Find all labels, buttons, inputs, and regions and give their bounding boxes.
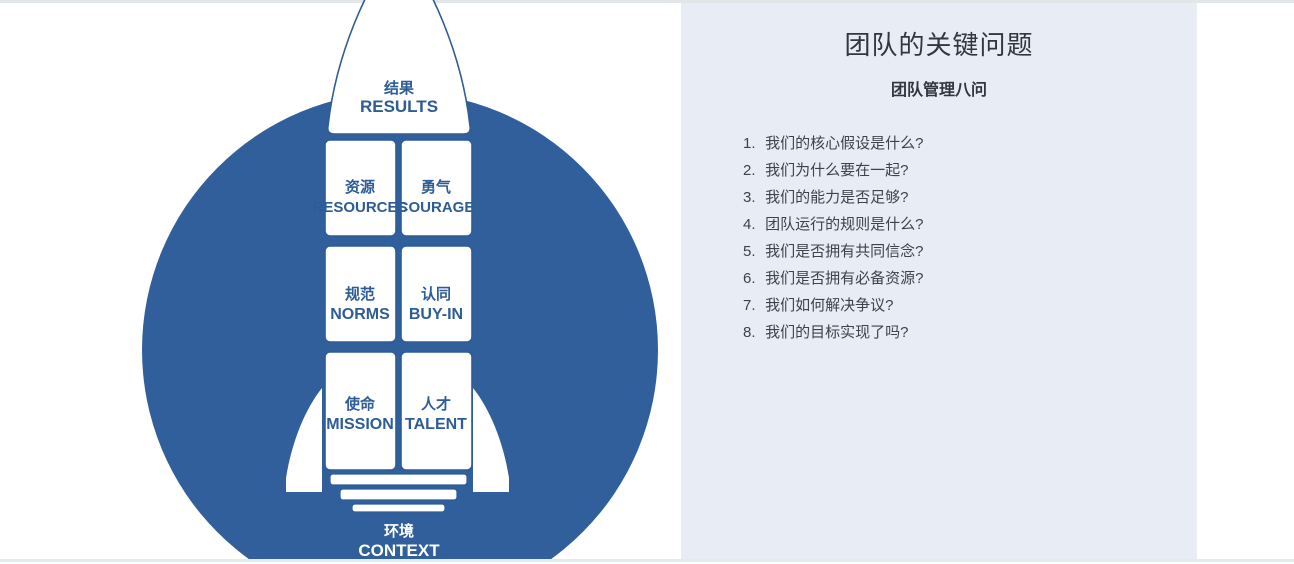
list-item: 2. 我们为什么要在一起? — [743, 157, 1197, 184]
list-item-text: 我们的核心假设是什么? — [765, 135, 923, 152]
list-item-number: 7. — [743, 292, 761, 319]
list-item-text: 我们是否拥有共同信念? — [765, 243, 923, 260]
list-item-number: 6. — [743, 265, 761, 292]
questions-list: 1. 我们的核心假设是什么? 2. 我们为什么要在一起? 3. 我们的能力是否足… — [681, 100, 1197, 346]
list-item: 5. 我们是否拥有共同信念? — [743, 238, 1197, 265]
resources-label-en: RESOURCES — [312, 199, 407, 216]
mission-label-en: MISSION — [326, 416, 394, 433]
list-item: 8. 我们的目标实现了吗? — [743, 319, 1197, 346]
list-item-number: 5. — [743, 238, 761, 265]
rocket-engine-bar-1 — [330, 474, 467, 485]
buyin-label-cn: 认同 — [421, 285, 451, 303]
list-item-text: 我们如何解决争议? — [765, 297, 893, 314]
talent-label-en: TALENT — [405, 416, 467, 433]
courage-label-en: COURAGE — [398, 199, 475, 216]
list-item: 7. 我们如何解决争议? — [743, 292, 1197, 319]
list-item-number: 8. — [743, 319, 761, 346]
list-item-number: 1. — [743, 130, 761, 157]
questions-panel: 团队的关键问题 团队管理八问 1. 我们的核心假设是什么? 2. 我们为什么要在… — [681, 3, 1197, 559]
list-item: 3. 我们的能力是否足够? — [743, 184, 1197, 211]
list-item-text: 我们是否拥有必备资源? — [765, 270, 923, 287]
norms-label-cn: 规范 — [345, 285, 375, 303]
courage-label-cn: 勇气 — [421, 178, 451, 196]
list-item: 6. 我们是否拥有必备资源? — [743, 265, 1197, 292]
mission-label-cn: 使命 — [344, 395, 376, 413]
results-label-en: RESULTS — [360, 97, 438, 116]
norms-label-en: NORMS — [330, 306, 390, 323]
list-item-text: 我们为什么要在一起? — [765, 162, 908, 179]
rocket-diagram: 结果 RESULTS 资源 RESOURCES 勇气 COURAGE 规范 NO… — [0, 0, 681, 559]
buyin-label-en: BUY-IN — [409, 306, 463, 323]
list-item-text: 团队运行的规则是什么? — [765, 216, 923, 233]
resources-label-cn: 资源 — [345, 178, 375, 196]
results-label-cn: 结果 — [384, 79, 415, 97]
context-label-cn: 环境 — [384, 522, 414, 540]
page-subtitle: 团队管理八问 — [681, 62, 1197, 100]
bottom-divider — [0, 559, 1294, 562]
list-item: 4. 团队运行的规则是什么? — [743, 211, 1197, 238]
rocket-engine-bar-3 — [352, 504, 445, 512]
context-label-en: CONTEXT — [358, 541, 440, 559]
rocket-diagram-svg: 结果 RESULTS 资源 RESOURCES 勇气 COURAGE 规范 NO… — [0, 0, 681, 559]
list-item-text: 我们的能力是否足够? — [765, 189, 908, 206]
page-title: 团队的关键问题 — [681, 3, 1197, 62]
slide-canvas: 结果 RESULTS 资源 RESOURCES 勇气 COURAGE 规范 NO… — [0, 0, 1294, 564]
list-item-number: 2. — [743, 157, 761, 184]
list-item-text: 我们的目标实现了吗? — [765, 324, 908, 341]
list-item-number: 4. — [743, 211, 761, 238]
list-item-number: 3. — [743, 184, 761, 211]
list-item: 1. 我们的核心假设是什么? — [743, 130, 1197, 157]
rocket-engine-bar-2 — [340, 489, 457, 500]
talent-label-cn: 人才 — [421, 395, 451, 413]
